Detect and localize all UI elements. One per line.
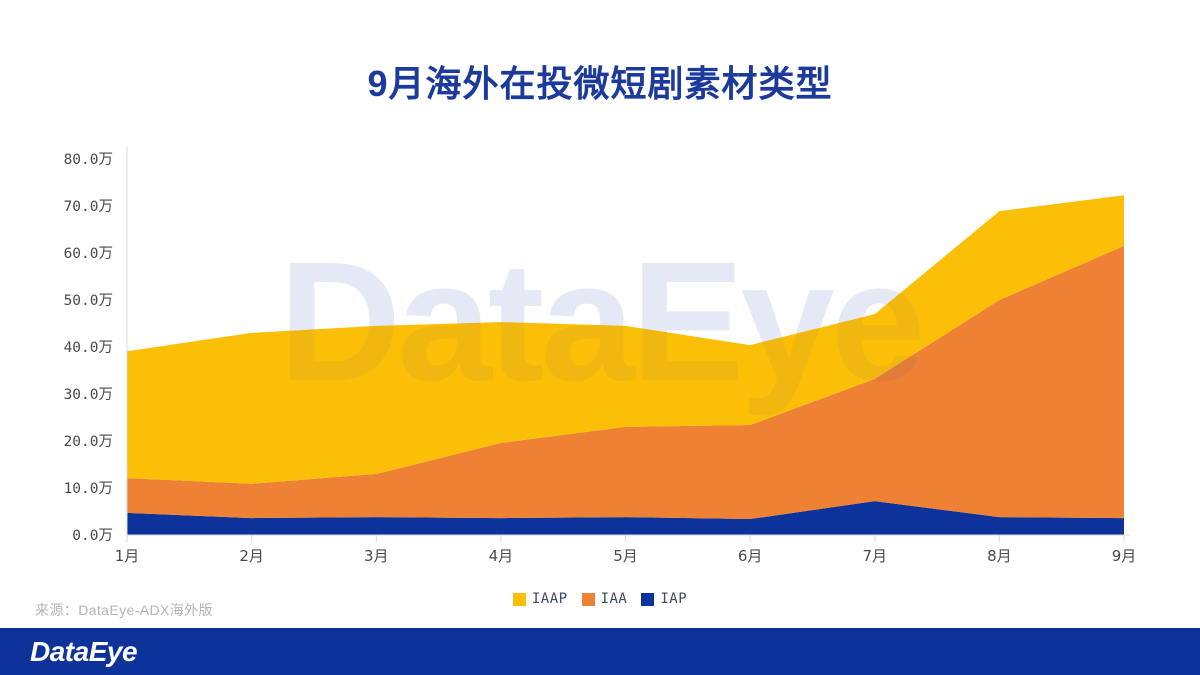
legend-label-iap: IAP — [660, 591, 687, 607]
x-axis-tick-label: 7月 — [862, 547, 887, 565]
stacked-area-chart: DataEyeDataEye0.0万10.0万20.0万30.0万40.0万50… — [0, 130, 1200, 570]
x-axis-tick-label: 3月 — [364, 547, 389, 565]
legend-item-iaap[interactable]: IAAP — [513, 591, 568, 607]
y-axis-tick-label: 50.0万 — [64, 293, 113, 309]
x-axis-tick-label: 6月 — [738, 547, 763, 565]
x-axis-tick-label: 2月 — [239, 547, 264, 565]
page-title: 9月海外在投微短剧素材类型 — [0, 55, 1200, 107]
legend-item-iaa[interactable]: IAA — [582, 591, 628, 607]
legend-swatch-iaa — [582, 593, 595, 606]
footer-bar: DataEye — [0, 628, 1200, 675]
chart-plot-area: DataEyeDataEye0.0万10.0万20.0万30.0万40.0万50… — [0, 130, 1200, 570]
watermark-overlay: DataEye — [279, 227, 922, 417]
chart-legend: IAAPIAAIAP — [0, 591, 1200, 607]
y-axis-tick-label: 60.0万 — [64, 246, 113, 262]
y-axis-tick-label: 10.0万 — [64, 481, 113, 497]
x-axis-tick-label: 5月 — [613, 547, 638, 565]
x-axis-tick-label: 9月 — [1112, 547, 1137, 565]
x-axis-tick-label: 1月 — [115, 547, 140, 565]
y-axis-tick-label: 0.0万 — [72, 528, 113, 544]
y-axis-tick-label: 30.0万 — [64, 387, 113, 403]
y-axis-tick-label: 40.0万 — [64, 340, 113, 356]
legend-label-iaa: IAA — [601, 591, 628, 607]
legend-swatch-iaap — [513, 593, 526, 606]
watermark-overlay-text: DataEye — [279, 227, 922, 417]
y-axis-tick-label: 70.0万 — [64, 199, 113, 215]
x-axis-tick-label: 8月 — [987, 547, 1012, 565]
legend-item-iap[interactable]: IAP — [641, 591, 687, 607]
x-axis-tick-label: 4月 — [489, 547, 514, 565]
legend-swatch-iap — [641, 593, 654, 606]
chart-page: 9月海外在投微短剧素材类型 DataEyeDataEye0.0万10.0万20.… — [0, 0, 1200, 675]
y-axis-tick-label: 80.0万 — [64, 152, 113, 168]
legend-label-iaap: IAAP — [532, 591, 568, 607]
y-axis-tick-label: 20.0万 — [64, 434, 113, 450]
dataeye-logo: DataEye — [30, 636, 137, 668]
